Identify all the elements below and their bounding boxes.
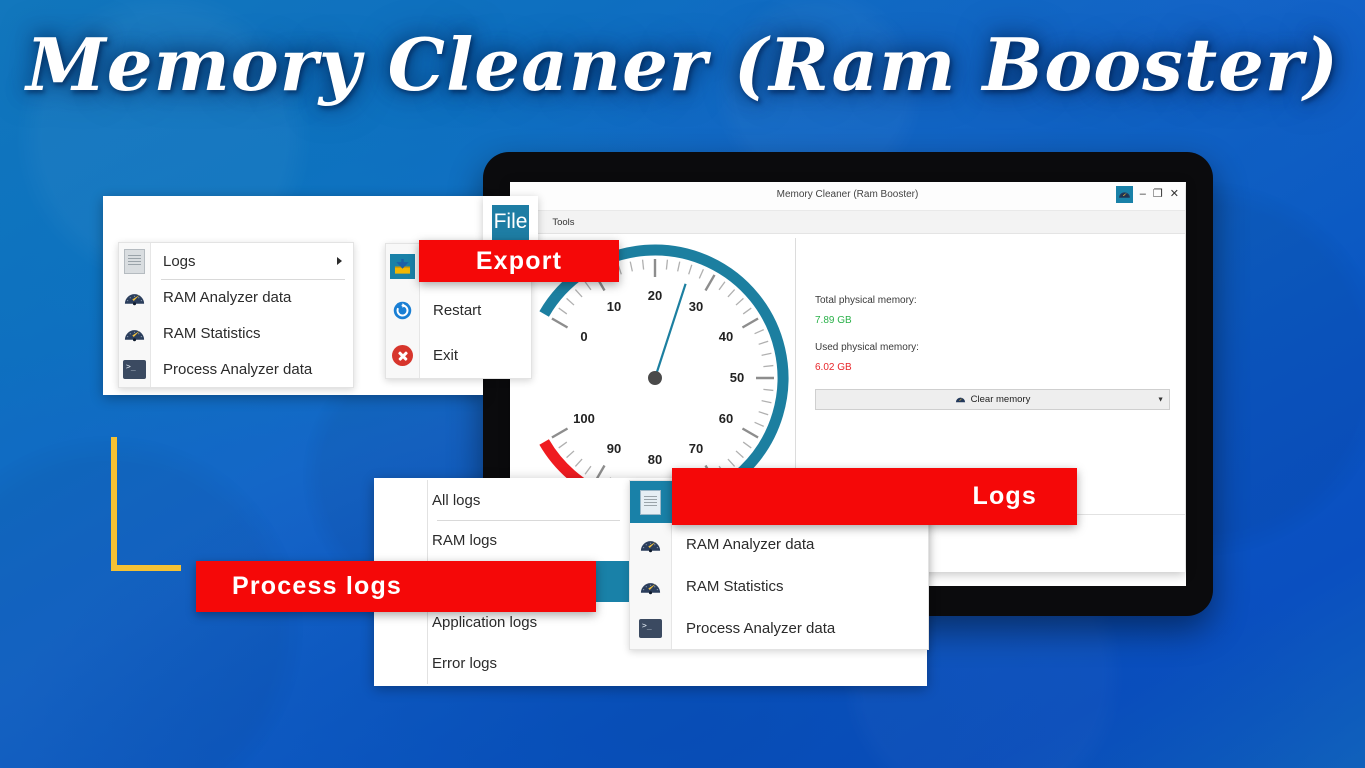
top-context-menu: Logs RAM Analyzer data RAM Statistics: [118, 242, 354, 388]
app-title: Memory Cleaner (Ram Booster): [510, 189, 1185, 200]
logs-submenu-item-all-logs[interactable]: All logs: [391, 480, 629, 520]
yellow-bracket: [111, 437, 181, 571]
menu-item-logs[interactable]: Logs: [119, 243, 353, 279]
logs-submenu-label: Error logs: [427, 655, 497, 672]
total-memory-value: 7.89 GB: [815, 315, 1170, 326]
file-menu-item-label: Exit: [419, 347, 458, 364]
clear-memory-caret-icon[interactable]: ▼: [1157, 396, 1164, 403]
logs-submenu-label: Application logs: [427, 614, 537, 631]
used-memory-value: 6.02 GB: [815, 362, 1170, 373]
menu-item-process-analyzer-data[interactable]: Process Analyzer data: [119, 351, 353, 387]
logs-submenu-label: RAM logs: [427, 532, 497, 549]
gauge-icon: [119, 286, 150, 309]
file-menu-item-restart[interactable]: Restart: [386, 288, 531, 333]
callout-process-logs: Process logs: [196, 561, 596, 612]
menu-item-label: Process Analyzer data: [150, 361, 312, 378]
menu-item-label: RAM Statistics: [150, 325, 261, 342]
svg-text:0: 0: [580, 329, 587, 344]
close-button[interactable]: ✕: [1170, 189, 1179, 200]
chevron-right-icon: [337, 257, 342, 265]
document-icon: [119, 249, 150, 274]
document-icon: [630, 490, 671, 515]
window-buttons: – ❐ ✕: [1116, 186, 1179, 203]
svg-text:10: 10: [607, 299, 621, 314]
gauge-icon: [630, 575, 671, 598]
terminal-icon: [119, 360, 150, 379]
menu-item-ram-statistics[interactable]: RAM Statistics: [119, 315, 353, 351]
bottom-menu-item-ram-analyzer-data[interactable]: RAM Analyzer data: [630, 523, 928, 565]
gauge-icon: [630, 533, 671, 556]
bracket-horizontal: [111, 565, 181, 571]
clear-memory-label: Clear memory: [971, 394, 1031, 405]
logs-submenu-label: All logs: [427, 492, 480, 509]
app-titlebar: Memory Cleaner (Ram Booster) – ❐ ✕: [510, 182, 1185, 211]
restart-icon: [386, 300, 419, 321]
memory-info-panel: Total physical memory: 7.89 GB Used phys…: [815, 295, 1170, 410]
svg-text:90: 90: [607, 441, 621, 456]
svg-text:100: 100: [573, 411, 595, 426]
bottom-menu-item-process-analyzer-data[interactable]: Process Analyzer data: [630, 607, 928, 649]
file-menu-item-exit[interactable]: Exit: [386, 333, 531, 378]
callout-export: Export: [419, 240, 619, 282]
bottom-menu-label: RAM Analyzer data: [671, 536, 814, 553]
titlebar-gauge-icon[interactable]: [1116, 186, 1133, 203]
callout-process-logs-label: Process logs: [232, 572, 402, 601]
svg-text:80: 80: [648, 452, 662, 467]
minimize-button[interactable]: –: [1140, 189, 1146, 200]
callout-logs-label: Logs: [972, 482, 1037, 511]
bottom-menu-item-ram-statistics[interactable]: RAM Statistics: [630, 565, 928, 607]
exit-icon: [386, 345, 419, 366]
file-menu-item-label: Restart: [419, 302, 481, 319]
menu-item-ram-analyzer-data[interactable]: RAM Analyzer data: [119, 279, 353, 315]
terminal-icon: [630, 619, 671, 638]
svg-text:60: 60: [719, 411, 733, 426]
total-memory-label: Total physical memory:: [815, 295, 1170, 306]
logs-submenu-item-error-logs[interactable]: Error logs: [391, 643, 629, 684]
callout-export-label: Export: [476, 247, 562, 276]
gauge-icon: [119, 322, 150, 345]
logs-submenu-item-ram-logs[interactable]: RAM logs: [391, 520, 629, 561]
page-title: Memory Cleaner (Ram Booster): [0, 22, 1365, 107]
used-memory-label: Used physical memory:: [815, 342, 1170, 353]
menu-item-label: RAM Analyzer data: [150, 289, 291, 306]
clear-memory-gauge-icon: [955, 394, 966, 405]
svg-text:30: 30: [689, 299, 703, 314]
menu-item-label: Logs: [150, 253, 196, 270]
menubar-item-tools[interactable]: Tools: [543, 217, 583, 228]
svg-text:50: 50: [730, 370, 744, 385]
clear-memory-button[interactable]: Clear memory ▼: [815, 389, 1170, 410]
bottom-menu-label: Process Analyzer data: [671, 620, 835, 637]
bracket-vertical: [111, 437, 117, 571]
bottom-menu-label: RAM Statistics: [671, 578, 784, 595]
callout-logs: Logs: [672, 468, 1077, 525]
svg-text:40: 40: [719, 329, 733, 344]
svg-text:70: 70: [689, 441, 703, 456]
file-tab-label: File: [494, 210, 528, 234]
app-menubar: File Tools: [510, 211, 1185, 234]
maximize-button[interactable]: ❐: [1153, 189, 1163, 200]
svg-text:20: 20: [648, 288, 662, 303]
export-icon: [386, 254, 419, 279]
